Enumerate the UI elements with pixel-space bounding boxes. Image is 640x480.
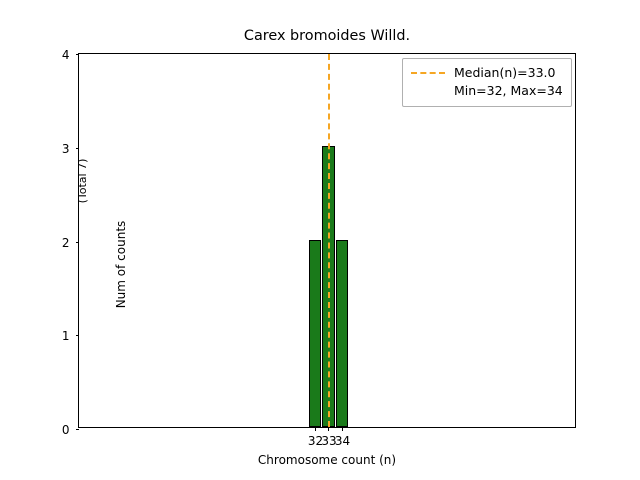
- median-layer: [79, 54, 575, 427]
- legend-item-median: Median(n)=33.0: [411, 64, 563, 82]
- bars-layer: [79, 54, 575, 427]
- median-line: [328, 54, 330, 427]
- page-title: Carex bromoides Willd.: [78, 28, 576, 45]
- ytick-label-3: 3: [62, 141, 70, 157]
- ytick-0: 0: [76, 429, 80, 430]
- bar-32: [309, 240, 322, 428]
- plot-area: 0 1 2 3 4 32 33 34: [78, 53, 576, 428]
- ytick-label-0: 0: [62, 422, 70, 438]
- ytick-1: 1: [76, 335, 80, 336]
- chart-figure: Carex bromoides Willd. 0 1 2 3 4 32 33 3…: [0, 0, 640, 480]
- ytick-label-2: 2: [62, 235, 70, 251]
- bar-33: [322, 146, 335, 427]
- xtick-32: 32: [315, 427, 316, 431]
- legend-label-median: Median(n)=33.0: [454, 64, 555, 82]
- chart-legend[interactable]: Median(n)=33.0 Min=32, Max=34: [402, 58, 572, 107]
- xtick-33: 33: [328, 427, 329, 431]
- x-axis-label: Chromosome count (n): [78, 453, 576, 468]
- ytick-4: 4: [76, 54, 80, 55]
- xtick-34: 34: [342, 427, 343, 431]
- dashed-line-icon: [411, 72, 445, 74]
- y-axis-label: Num of counts: [114, 77, 129, 452]
- legend-item-minmax: Min=32, Max=34: [411, 82, 563, 100]
- bar-34: [336, 240, 349, 428]
- ytick-label-4: 4: [62, 47, 70, 63]
- legend-label-minmax: Min=32, Max=34: [454, 82, 563, 100]
- xtick-label-34: 34: [335, 433, 350, 449]
- y-axis-total-label: (Total 7): [76, 66, 90, 296]
- ytick-label-1: 1: [62, 328, 70, 344]
